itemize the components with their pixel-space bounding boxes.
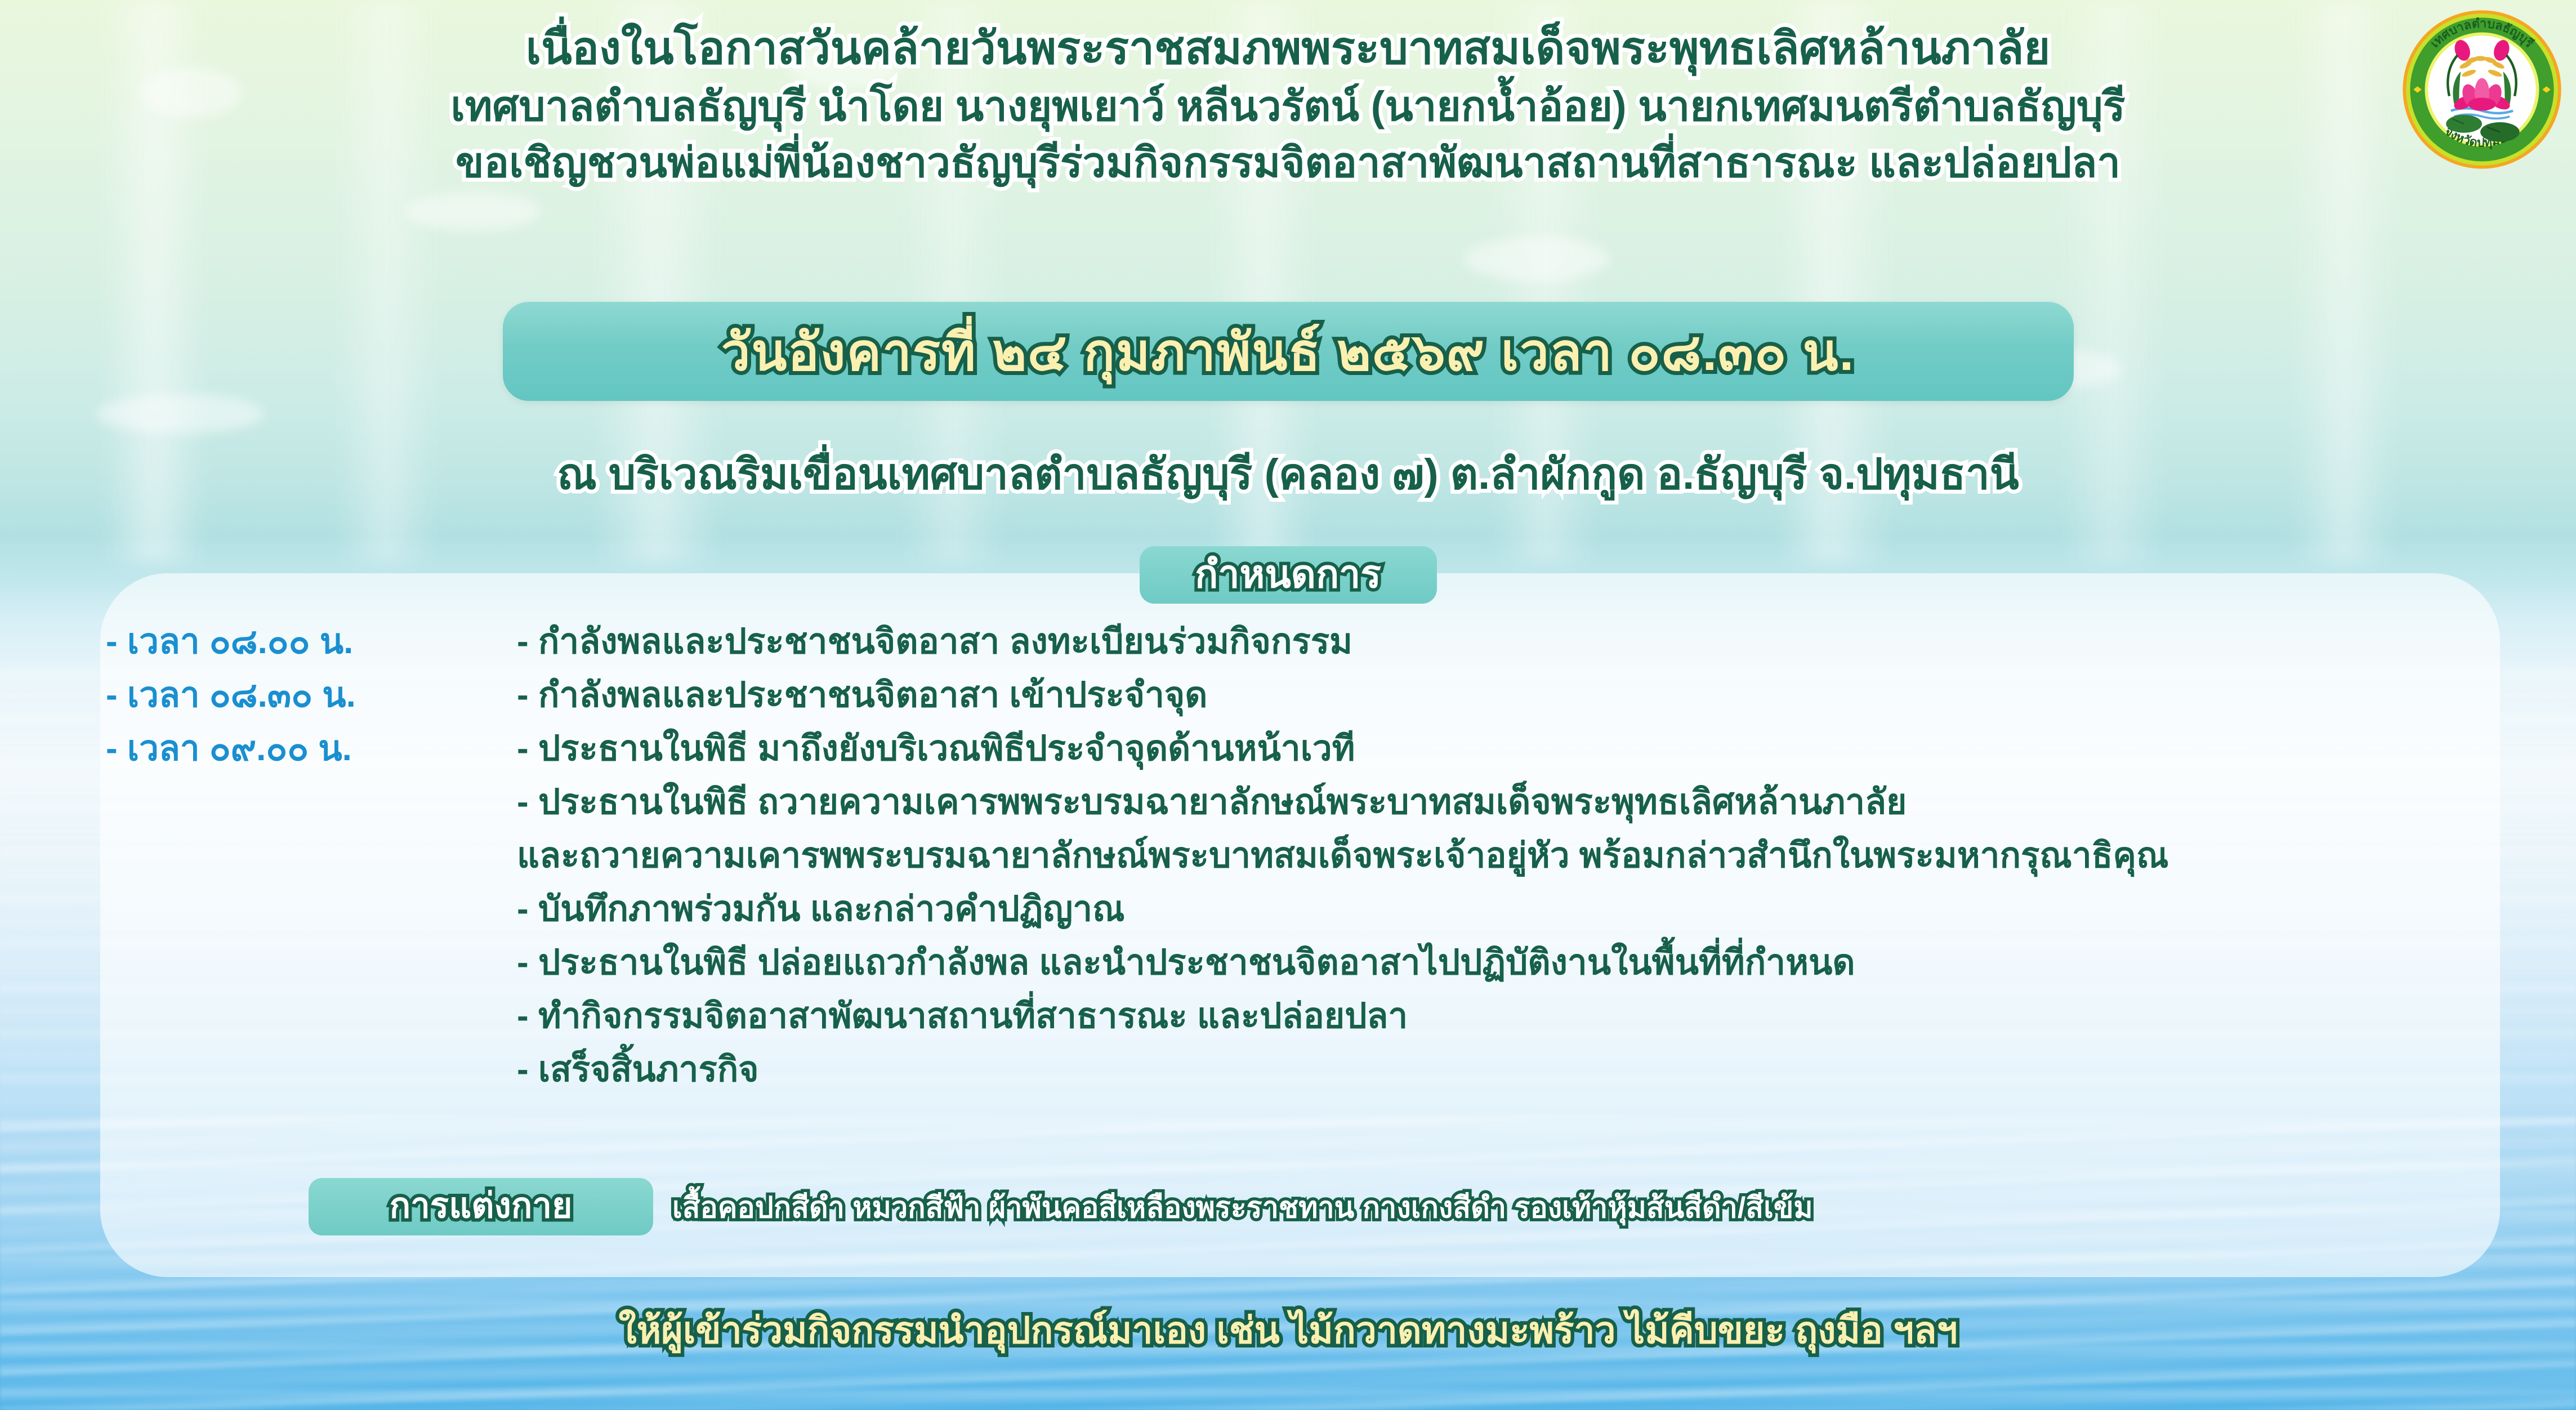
schedule-desc: - ประธานในพิธี ถวายความเคารพพระบรมฉายาลั… (517, 774, 1907, 829)
dress-code-badge: การแต่งกาย (309, 1178, 653, 1235)
schedule-desc: และถวายความเคารพพระบรมฉายาลักษณ์พระบาทสม… (517, 828, 2168, 883)
schedule-row: - เวลา ๐๙.๐๐ น. - ประธานในพิธี มาถึงยังบ… (100, 721, 2576, 774)
bokeh-blob (1464, 237, 1610, 282)
schedule-row: - ประธานในพิธี ปล่อยแถวกำลังพล และนำประช… (100, 935, 2576, 988)
header-line-2: เทศบาลตำบลธัญบุรี นำโดย นางยุพเยาว์ หลีน… (0, 86, 2576, 127)
schedule-row: - ประธานในพิธี ถวายความเคารพพระบรมฉายาลั… (100, 774, 2576, 828)
schedule-badge-label: กำหนดการ (1195, 543, 1381, 604)
header-block: เนื่องในโอกาสวันคล้ายวันพระราชสมภพพระบาท… (0, 26, 2576, 198)
schedule-row: - เวลา ๐๘.๓๐ น. - กำลังพลและประชาชนจิตอา… (100, 667, 2576, 721)
dress-code-block: การแต่งกาย เสื้อคอปกสีดำ หมวกสีฟ้า ผ้าพั… (309, 1178, 1813, 1235)
bokeh-blob (96, 394, 265, 434)
dress-code-text: เสื้อคอปกสีดำ หมวกสีฟ้า ผ้าพันคอสีเหลือง… (672, 1184, 1813, 1230)
schedule-time: - เวลา ๐๘.๐๐ น. (100, 614, 517, 669)
schedule-row: และถวายความเคารพพระบรมฉายาลักษณ์พระบาทสม… (100, 828, 2576, 881)
schedule-row: - เสร็จสิ้นภารกิจ (100, 1042, 2576, 1095)
dress-code-badge-label: การแต่งกาย (390, 1178, 573, 1233)
schedule-desc: - ประธานในพิธี มาถึงยังบริเวณพิธีประจำจุ… (517, 721, 1355, 776)
schedule-desc: - กำลังพลและประชาชนจิตอาสา ลงทะเบียนร่วม… (517, 614, 1352, 669)
venue-line: ณ บริเวณริมเขื่อนเทศบาลตำบลธัญบุรี (คลอง… (0, 440, 2576, 508)
header-line-1: เนื่องในโอกาสวันคล้ายวันพระราชสมภพพระบาท… (0, 26, 2576, 71)
schedule-desc: - ทำกิจกรรมจิตอาสาพัฒนาสถานที่สาธารณะ แล… (517, 988, 1408, 1043)
schedule-time: - เวลา ๐๙.๐๐ น. (100, 721, 517, 776)
schedule-row: - เวลา ๐๘.๐๐ น. - กำลังพลและประชาชนจิตอา… (100, 614, 2576, 667)
header-line-3: ขอเชิญชวนพ่อแม่พี่น้องชาวธัญบุรีร่วมกิจก… (0, 142, 2576, 184)
schedule-row: - ทำกิจกรรมจิตอาสาพัฒนาสถานที่สาธารณะ แล… (100, 988, 2576, 1042)
schedule-list: - เวลา ๐๘.๐๐ น. - กำลังพลและประชาชนจิตอา… (100, 614, 2576, 1095)
date-banner-text: วันอังคารที่ ๒๔ กุมภาพันธ์ ๒๕๖๙ เวลา ๐๘.… (721, 310, 1855, 393)
schedule-desc: - กำลังพลและประชาชนจิตอาสา เข้าประจำจุด (517, 667, 1208, 722)
footer-note-text: ให้ผู้เข้าร่วมกิจกรรมนำอุปกรณ์มาเอง เช่น… (619, 1309, 1958, 1351)
footer-note: ให้ผู้เข้าร่วมกิจกรรมนำอุปกรณ์มาเอง เช่น… (0, 1301, 2576, 1360)
schedule-desc: - เสร็จสิ้นภารกิจ (517, 1042, 759, 1097)
date-banner: วันอังคารที่ ๒๔ กุมภาพันธ์ ๒๕๖๙ เวลา ๐๘.… (503, 302, 2074, 401)
schedule-badge: กำหนดการ (1140, 546, 1437, 604)
schedule-desc: - บันทึกภาพร่วมกัน และกล่าวคำปฏิญาณ (517, 881, 1125, 936)
schedule-desc: - ประธานในพิธี ปล่อยแถวกำลังพล และนำประช… (517, 935, 1855, 990)
schedule-time: - เวลา ๐๘.๓๐ น. (100, 667, 517, 722)
schedule-row: - บันทึกภาพร่วมกัน และกล่าวคำปฏิญาณ (100, 881, 2576, 935)
